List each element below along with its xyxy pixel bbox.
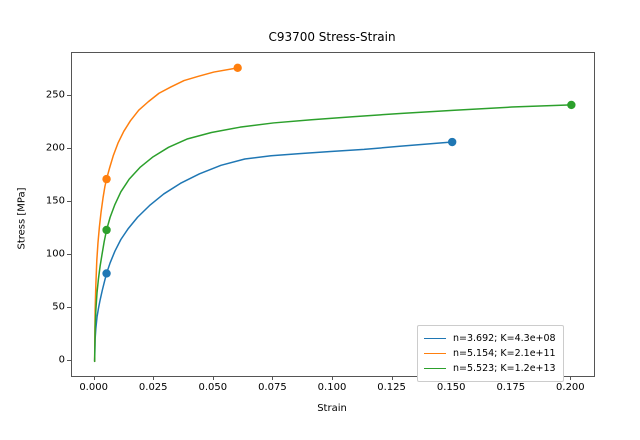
legend-item: n=5.154; K=2.1e+11: [424, 346, 556, 361]
legend-color-swatch: [424, 338, 446, 339]
y-tick-mark: [67, 307, 71, 308]
legend-item: n=5.523; K=1.2e+13: [424, 361, 556, 376]
y-tick-label: 250: [29, 90, 65, 101]
legend-label: n=5.523; K=1.2e+13: [453, 363, 556, 374]
y-tick-label: 50: [29, 302, 65, 313]
y-tick-mark: [67, 95, 71, 96]
legend-label: n=5.154; K=2.1e+11: [453, 348, 556, 359]
x-axis-label: Strain: [71, 403, 593, 414]
x-tick-mark: [94, 376, 95, 380]
x-tick-mark: [570, 376, 571, 380]
legend-color-swatch: [424, 368, 446, 369]
series-line: [95, 105, 572, 361]
x-tick-mark: [392, 376, 393, 380]
legend-item: n=3.692; K=4.3e+08: [424, 331, 556, 346]
x-tick-mark: [272, 376, 273, 380]
x-tick-label: 0.175: [496, 382, 525, 393]
x-tick-label: 0.100: [318, 382, 347, 393]
y-tick-mark: [67, 360, 71, 361]
data-point-marker: [102, 175, 110, 183]
legend-label: n=3.692; K=4.3e+08: [453, 333, 556, 344]
x-tick-label: 0.075: [258, 382, 287, 393]
y-tick-mark: [67, 254, 71, 255]
x-tick-mark: [332, 376, 333, 380]
y-tick-label: 100: [29, 249, 65, 260]
x-tick-mark: [153, 376, 154, 380]
data-point-marker: [102, 269, 110, 277]
x-tick-label: 0.200: [556, 382, 585, 393]
legend-color-swatch: [424, 353, 446, 354]
series-line: [95, 142, 453, 361]
y-axis-label: Stress [MPa]: [17, 159, 28, 279]
data-point-marker: [102, 226, 110, 234]
x-tick-label: 0.025: [139, 382, 168, 393]
data-point-marker: [448, 138, 456, 146]
y-tick-mark: [67, 148, 71, 149]
x-tick-mark: [213, 376, 214, 380]
data-point-marker: [567, 101, 575, 109]
y-tick-label: 0: [29, 355, 65, 366]
matplotlib-figure: C93700 Stress-Strain 0.0000.0250.0500.07…: [0, 0, 640, 440]
x-tick-label: 0.050: [198, 382, 227, 393]
x-tick-label: 0.125: [377, 382, 406, 393]
data-point-marker: [233, 64, 241, 72]
y-tick-label: 150: [29, 196, 65, 207]
series-line: [95, 68, 238, 362]
chart-title: C93700 Stress-Strain: [71, 30, 593, 44]
y-tick-mark: [67, 201, 71, 202]
y-tick-label: 200: [29, 143, 65, 154]
x-tick-label: 0.000: [79, 382, 108, 393]
chart-legend: n=3.692; K=4.3e+08n=5.154; K=2.1e+11n=5.…: [417, 325, 564, 382]
x-tick-label: 0.150: [437, 382, 466, 393]
